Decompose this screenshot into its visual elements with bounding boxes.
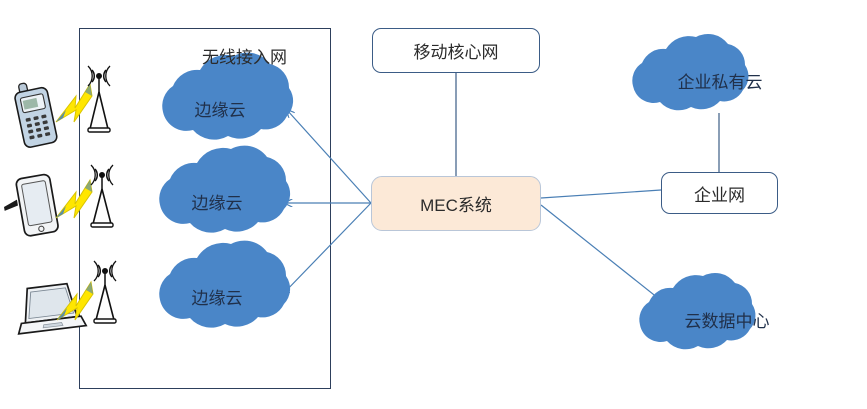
tablet-pda-icon xyxy=(0,174,59,240)
cloud-data-center-shape xyxy=(639,273,755,349)
edge-cloud-3-shape xyxy=(159,241,290,328)
cell-tower-icon-2 xyxy=(91,165,113,227)
cell-tower-icon-3 xyxy=(94,261,116,323)
diagram-canvas: 无线接入网 xyxy=(0,0,867,409)
lightning-bolt-icon-2 xyxy=(56,180,92,218)
mobile-core-network-box[interactable]: 移动核心网 xyxy=(372,28,540,73)
mec-system-box[interactable]: MEC系统 xyxy=(371,176,541,231)
edge-cloud-2-shape xyxy=(159,146,290,233)
mobile-phone-icon xyxy=(12,79,58,148)
lightning-bolt-icon-1 xyxy=(56,84,92,122)
cell-tower-icon-1 xyxy=(88,66,110,132)
enterprise-private-cloud-shape xyxy=(632,34,748,110)
wireless-access-network-title: 无线接入网 xyxy=(202,43,287,68)
enterprise-network-box[interactable]: 企业网 xyxy=(661,172,778,214)
